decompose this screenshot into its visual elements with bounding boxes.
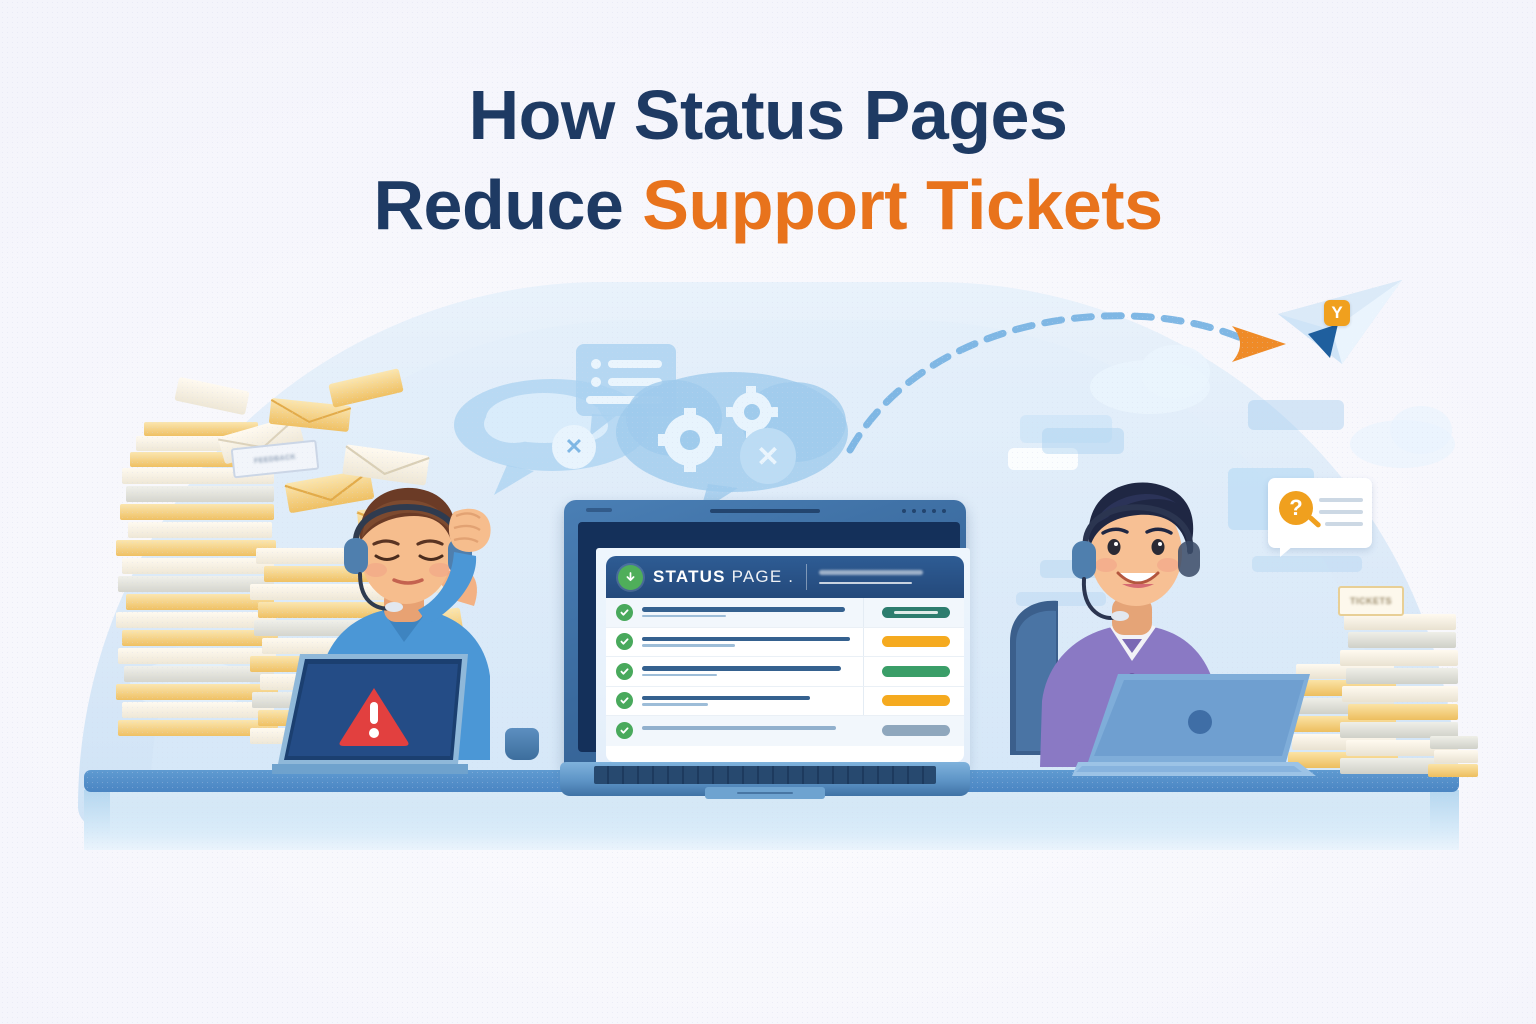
check-circle-icon: [616, 633, 633, 650]
row-text-lines: [642, 607, 863, 617]
paper-plane-icon: Y: [1272, 278, 1412, 368]
table-row[interactable]: [606, 628, 964, 658]
table-row[interactable]: [606, 716, 964, 746]
row-text-lines: [642, 726, 863, 736]
headline-line-1: How Status Pages: [0, 78, 1536, 154]
status-page-title: STATUS PAGE .: [653, 567, 794, 587]
page-title: How Status Pages Reduce Support Tickets: [0, 78, 1536, 243]
headline-line-2-primary: Reduce: [373, 166, 642, 244]
row-text-lines: [642, 696, 863, 706]
dashed-flight-path: [840, 280, 1310, 460]
laptop-base-notch: [737, 792, 793, 794]
download-circle-icon: [618, 565, 643, 590]
laptop-keyboard: [594, 766, 936, 784]
x-mark-icon: ✕: [740, 428, 796, 484]
tickets-label: TICKETS: [1338, 586, 1404, 616]
faq-text-line: [1325, 522, 1363, 526]
gears-cloud-icon: [612, 360, 852, 520]
faq-help-card: ?: [1268, 478, 1372, 548]
right-agent-laptop: [1072, 670, 1320, 780]
status-badge: [882, 725, 950, 736]
headline-line-2-accent: Support Tickets: [642, 166, 1162, 244]
check-circle-icon: [616, 692, 633, 709]
status-page-title-light: PAGE .: [726, 567, 795, 586]
faq-text-line: [1319, 498, 1363, 502]
magnifier-question-icon: ?: [1279, 491, 1313, 525]
faq-card-tail: [1280, 546, 1293, 557]
status-page-meta: [819, 570, 952, 584]
warning-triangle-icon: [338, 684, 410, 746]
row-text-lines: [642, 637, 863, 647]
plane-badge: Y: [1324, 300, 1350, 326]
check-circle-icon: [616, 722, 633, 739]
check-circle-icon: [616, 604, 633, 621]
chat-bubble-icon: [1252, 556, 1362, 572]
row-divider: [863, 628, 864, 657]
row-text-lines: [642, 666, 863, 676]
row-divider: [863, 687, 864, 716]
table-row[interactable]: [606, 657, 964, 687]
x-mark-icon: ✕: [552, 425, 596, 469]
laptop-indicator-dots: [902, 509, 946, 513]
faq-text-line: [1319, 510, 1363, 514]
status-badge: [882, 695, 950, 706]
status-page-header: STATUS PAGE .: [606, 556, 964, 598]
status-badge: [882, 666, 950, 677]
status-rows-container: [606, 598, 964, 762]
check-circle-icon: [616, 663, 633, 680]
laptop-lid: STATUS PAGE .: [564, 500, 966, 768]
laptop-sensor: [586, 508, 612, 512]
computer-mouse: [505, 728, 539, 760]
left-agent-laptop: [272, 646, 468, 774]
status-badge: [882, 607, 950, 618]
laptop-camera-slot: [710, 509, 820, 513]
illustration-canvas: ✕ ✕: [0, 0, 1536, 1024]
headline-line-2: Reduce Support Tickets: [0, 168, 1536, 244]
laptop-bezel: STATUS PAGE .: [578, 522, 960, 752]
table-row[interactable]: [606, 687, 964, 717]
status-page-laptop: STATUS PAGE .: [560, 500, 970, 800]
row-divider: [863, 716, 864, 746]
cloud-icon: [1390, 406, 1452, 454]
status-badge: [882, 636, 950, 647]
status-page-title-bold: STATUS: [653, 567, 726, 586]
table-row[interactable]: [606, 598, 964, 628]
laptop-screen: STATUS PAGE .: [596, 548, 970, 770]
row-divider: [863, 598, 864, 627]
header-divider: [806, 564, 807, 590]
row-divider: [863, 657, 864, 686]
